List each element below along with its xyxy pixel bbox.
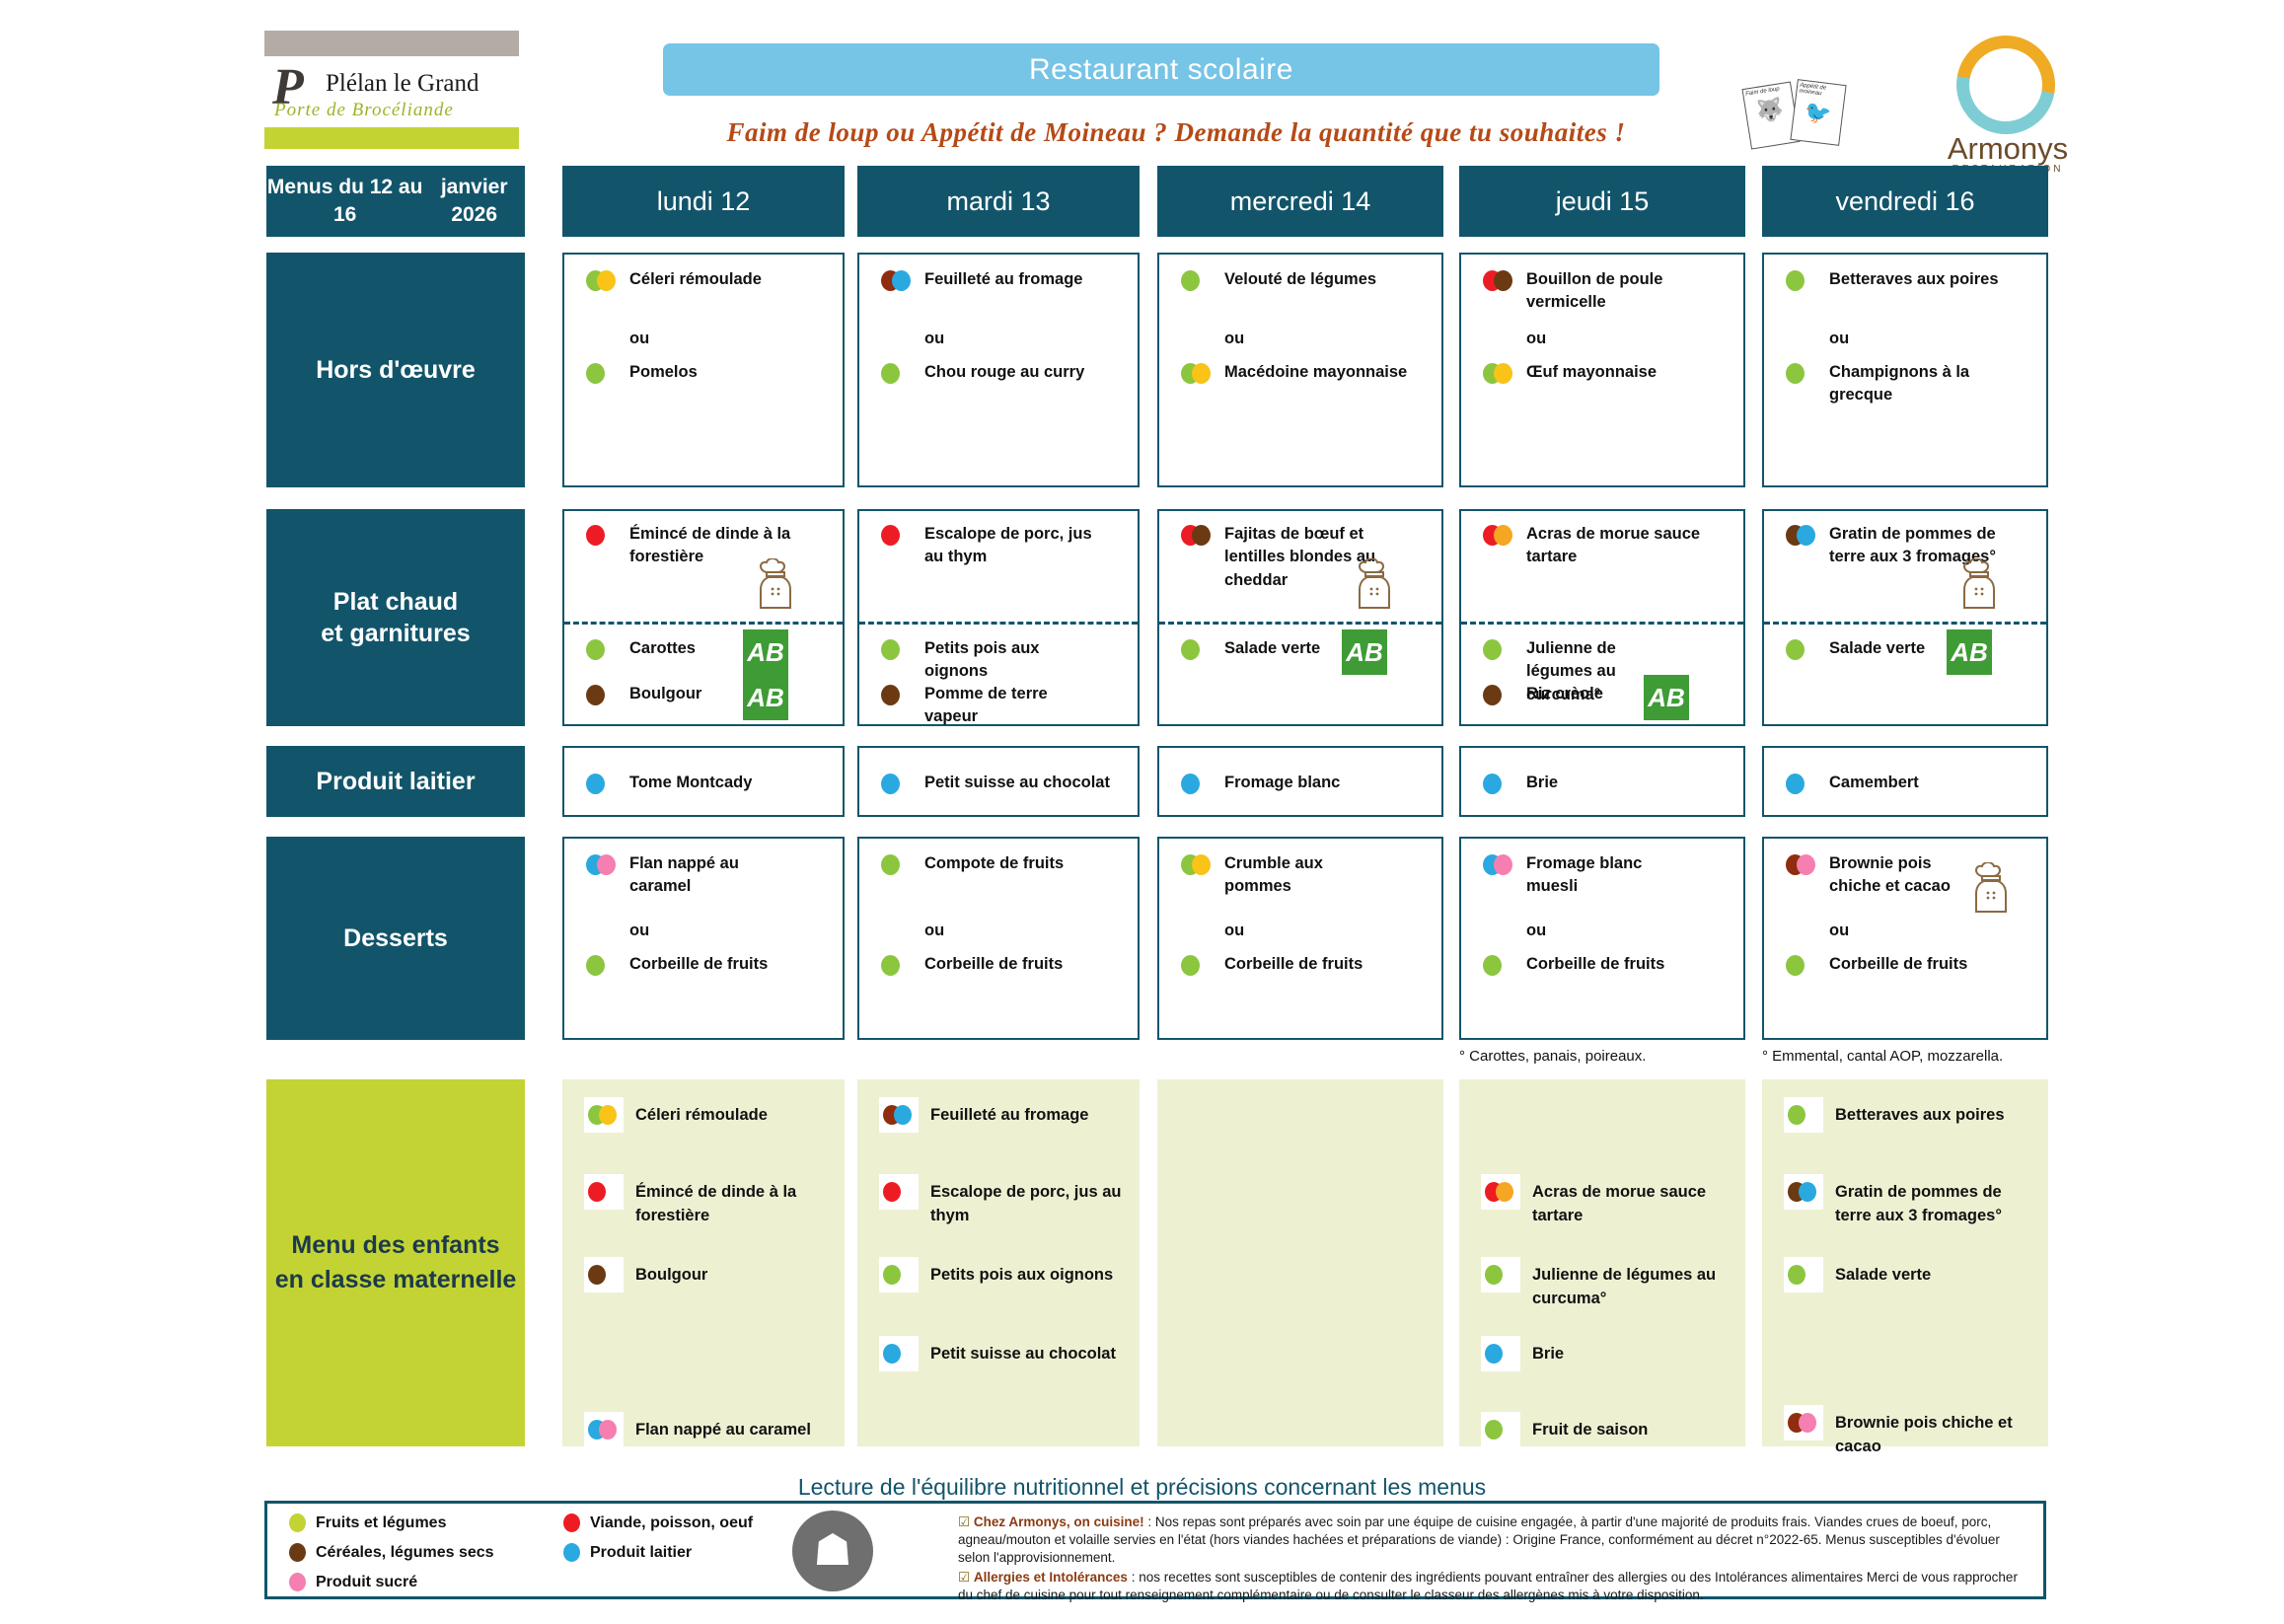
diet-dots xyxy=(1481,1412,1520,1447)
menu-item: Acras de morue sauce tartare xyxy=(1483,523,1710,569)
diet-dot xyxy=(1786,270,1805,291)
main-cell-5: Gratin de pommes de terre aux 3 fromages… xyxy=(1762,509,2048,726)
maternelle-item-label: Gratin de pommes de terre aux 3 fromages… xyxy=(1835,1174,2030,1228)
or-separator: ou xyxy=(629,330,649,348)
legend-dot xyxy=(563,1543,580,1562)
maternelle-item-label: Acras de morue sauce tartare xyxy=(1532,1174,1728,1228)
card-moineau-title: Appétit de moineau xyxy=(1799,83,1843,100)
dessert-cell-1: Flan nappé au caramelouCorbeille de frui… xyxy=(562,837,845,1040)
diet-dots xyxy=(1483,774,1516,795)
menu-item: Brownie pois chiche et cacao xyxy=(1786,852,1983,899)
diet-dots xyxy=(1181,525,1215,547)
menu-item: Pomelos xyxy=(586,361,829,385)
starter-cell-3: Velouté de légumesouMacédoine mayonnaise xyxy=(1157,253,1443,487)
menu-item: Salade verte xyxy=(1181,637,1359,661)
menu-item-label: Crumble aux pommes xyxy=(1224,852,1378,899)
diet-dot xyxy=(881,639,900,660)
menu-item: Corbeille de fruits xyxy=(1483,953,1730,977)
menu-item-label: Corbeille de fruits xyxy=(1224,953,1363,976)
allergens-note: ☑ Allergies et Intolérances : nos recett… xyxy=(958,1569,2028,1604)
page-header: P Plélan le Grand Porte de Brocéliande R… xyxy=(0,0,2284,168)
menu-item-label: Corbeille de fruits xyxy=(629,953,768,976)
diet-dot xyxy=(599,1105,617,1125)
maternelle-item-label: Flan nappé au caramel xyxy=(635,1412,811,1442)
diet-dot xyxy=(1797,525,1815,546)
menu-item-label: Champignons à la grecque xyxy=(1829,361,2032,407)
main-cell-4: Acras de morue sauce tartareJulienne de … xyxy=(1459,509,1745,726)
footer-box: Fruits et légumesCéréales, légumes secsP… xyxy=(264,1501,2046,1599)
maternelle-item: Boulgour xyxy=(584,1257,827,1292)
diet-dot xyxy=(586,363,605,384)
diet-dots xyxy=(1786,270,1819,292)
starter-cell-2: Feuilleté au fromageouChou rouge au curr… xyxy=(857,253,1140,487)
menu-item: Velouté de légumes xyxy=(1181,268,1428,292)
maternelle-item: Julienne de légumes au curcuma° xyxy=(1481,1257,1728,1311)
homemade-chef-icon xyxy=(756,558,795,610)
diet-dot xyxy=(1494,270,1512,291)
maternelle-cell-1: Céleri rémouladeÉmincé de dinde à la for… xyxy=(562,1079,845,1446)
menu-item-label: Bouillon de poule vermicelle xyxy=(1526,268,1730,315)
row-label-starter: Hors d'œuvre xyxy=(266,253,525,487)
footnote-jeudi: ° Carottes, panais, poireaux. xyxy=(1459,1048,1646,1065)
legend-label: Céréales, légumes secs xyxy=(316,1544,494,1562)
menu-item-label: Œuf mayonnaise xyxy=(1526,361,1657,384)
allergens-note-heading: Allergies et Intolérances xyxy=(974,1570,1128,1585)
maternelle-item-label: Feuilleté au fromage xyxy=(930,1097,1088,1128)
menu-item-label: Corbeille de fruits xyxy=(1829,953,1967,976)
week-range-line1: Menus du 12 au 16 xyxy=(266,174,423,230)
menu-item: Corbeille de fruits xyxy=(881,953,1124,977)
menu-item: Corbeille de fruits xyxy=(1181,953,1428,977)
diet-dot xyxy=(1496,1182,1513,1202)
maternelle-item: Gratin de pommes de terre aux 3 fromages… xyxy=(1784,1174,2030,1228)
legend-item: Fruits et légumes xyxy=(289,1513,446,1532)
legend-dot xyxy=(289,1573,306,1591)
legend-item: Produit laitier xyxy=(563,1543,692,1562)
diet-dot xyxy=(1485,1344,1503,1364)
legend-dot xyxy=(563,1513,580,1532)
check-icon: ☑ xyxy=(958,1570,970,1585)
diet-dots xyxy=(1181,955,1215,977)
ab-organic-label-icon: AB xyxy=(1644,675,1689,720)
legend-item: Produit sucré xyxy=(289,1573,417,1591)
or-separator: ou xyxy=(1224,330,1244,348)
menu-item: Bouillon de poule vermicelle xyxy=(1483,268,1730,315)
menu-item: Compote de fruits xyxy=(881,852,1074,876)
menu-item-label: Céleri rémoulade xyxy=(629,268,762,291)
footnote-vendredi: ° Emmental, cantal AOP, mozzarella. xyxy=(1762,1048,2003,1065)
armonys-note: ☑ Chez Armonys, on cuisine! : Nos repas … xyxy=(958,1513,2028,1568)
diet-dots xyxy=(1181,854,1215,876)
logo-middle: P Plélan le Grand Porte de Brocéliande xyxy=(264,56,519,127)
diet-dots xyxy=(586,270,620,292)
menu-item-label: Petit suisse au chocolat xyxy=(924,772,1110,794)
dessert-cell-3: Crumble aux pommesouCorbeille de fruits xyxy=(1157,837,1443,1040)
diet-dots xyxy=(1483,955,1516,977)
dessert-cell-4: Fromage blanc muesliouCorbeille de fruit… xyxy=(1459,837,1745,1040)
maternelle-item: Salade verte xyxy=(1784,1257,2030,1292)
diet-dot xyxy=(1181,639,1200,660)
menu-item-label: Fromage blanc xyxy=(1224,772,1340,794)
logo-tagline: Porte de Brocéliande xyxy=(274,100,454,121)
diet-dot xyxy=(1799,1182,1816,1202)
maternelle-item: Brownie pois chiche et cacao xyxy=(1784,1405,2030,1459)
day-header-label: mardi 13 xyxy=(946,186,1050,217)
armonys-brand-name: Armonys xyxy=(1929,131,2087,167)
diet-dot xyxy=(1181,955,1200,976)
diet-dots xyxy=(586,685,620,706)
diet-dot xyxy=(881,774,900,794)
menu-item: Boulgour xyxy=(586,683,760,706)
menu-item-label: Acras de morue sauce tartare xyxy=(1526,523,1710,569)
diet-dots xyxy=(881,854,915,876)
diet-dot xyxy=(588,1265,606,1285)
diet-dot xyxy=(597,270,616,291)
diet-dots xyxy=(1181,639,1215,661)
maternelle-cell-2: Feuilleté au fromageEscalope de porc, ju… xyxy=(857,1079,1140,1446)
menu-item: Œuf mayonnaise xyxy=(1483,361,1730,385)
diet-dot xyxy=(597,854,616,875)
diet-dots xyxy=(584,1097,624,1133)
menu-item-label: Salade verte xyxy=(1224,637,1320,660)
maternelle-item-label: Julienne de légumes au curcuma° xyxy=(1532,1257,1728,1311)
menu-item: Corbeille de fruits xyxy=(586,953,829,977)
menu-item-label: Betteraves aux poires xyxy=(1829,268,1999,291)
maternelle-item: Émincé de dinde à la forestière xyxy=(584,1174,827,1228)
diet-dot xyxy=(1181,270,1200,291)
or-separator: ou xyxy=(924,330,944,348)
diet-dots xyxy=(1481,1174,1520,1210)
or-separator: ou xyxy=(1224,922,1244,940)
maternelle-item: Acras de morue sauce tartare xyxy=(1481,1174,1728,1228)
chef-hat-badge: ☗ xyxy=(792,1511,873,1591)
diet-dots xyxy=(1483,685,1516,706)
maternelle-cell-4: Acras de morue sauce tartareJulienne de … xyxy=(1459,1079,1745,1446)
maternelle-item: Céleri rémoulade xyxy=(584,1097,827,1133)
diet-dots xyxy=(879,1174,919,1210)
menu-item: Céleri rémoulade xyxy=(586,268,829,292)
menu-item: Fromage blanc xyxy=(1181,772,1428,795)
ab-organic-label-icon: AB xyxy=(743,629,788,675)
legend-item: Viande, poisson, oeuf xyxy=(563,1513,753,1532)
diet-dot xyxy=(881,363,900,384)
diet-dot xyxy=(892,270,911,291)
legend-item: Céréales, légumes secs xyxy=(289,1543,494,1562)
diet-dots xyxy=(1786,955,1819,977)
menu-item-label: Corbeille de fruits xyxy=(1526,953,1664,976)
menu-item: Petit suisse au chocolat xyxy=(881,772,1124,795)
diet-dots xyxy=(1786,774,1819,795)
main-cell-2: Escalope de porc, jus au thymPetits pois… xyxy=(857,509,1140,726)
menu-item: Petits pois aux oignons xyxy=(881,637,1055,684)
diet-dots xyxy=(1181,363,1215,385)
diet-dot xyxy=(1485,1265,1503,1285)
diet-dots xyxy=(1784,1174,1823,1210)
diet-dot xyxy=(894,1105,912,1125)
main-side-divider xyxy=(1764,622,2046,625)
diet-dot xyxy=(1483,955,1502,976)
day-header-5: vendredi 16 xyxy=(1762,166,2048,237)
diet-dot xyxy=(1483,639,1502,660)
card-appetit-moineau: Appétit de moineau 🐦 xyxy=(1790,79,1846,146)
diet-dots xyxy=(879,1336,919,1371)
maternelle-item: Petits pois aux oignons xyxy=(879,1257,1122,1292)
dairy-cell-1: Tome Montcady xyxy=(562,746,845,817)
maternelle-item-label: Escalope de porc, jus au thym xyxy=(930,1174,1122,1228)
menu-item-label: Velouté de légumes xyxy=(1224,268,1376,291)
diet-dots xyxy=(1786,525,1819,547)
menu-item-label: Camembert xyxy=(1829,772,1919,794)
maternelle-item-label: Petit suisse au chocolat xyxy=(930,1336,1116,1366)
diet-dots xyxy=(584,1412,624,1447)
menu-item-label: Pomelos xyxy=(629,361,698,384)
diet-dots xyxy=(1786,639,1819,661)
maternelle-item-label: Fruit de saison xyxy=(1532,1412,1648,1442)
row-label-dairy: Produit laitier xyxy=(266,746,525,817)
maternelle-item-label: Petits pois aux oignons xyxy=(930,1257,1113,1288)
menu-item-label: Fromage blanc muesli xyxy=(1526,852,1680,899)
diet-dots xyxy=(881,639,915,661)
diet-dots xyxy=(1481,1257,1520,1292)
menu-item-label: Brie xyxy=(1526,772,1558,794)
maternelle-item: Feuilleté au fromage xyxy=(879,1097,1122,1133)
card-faim-title: Faim de loup xyxy=(1745,85,1789,98)
dessert-cell-5: Brownie pois chiche et cacaoouCorbeille … xyxy=(1762,837,2048,1040)
diet-dot xyxy=(1485,1420,1503,1439)
or-separator: ou xyxy=(1829,330,1849,348)
dessert-cell-2: Compote de fruitsouCorbeille de fruits xyxy=(857,837,1140,1040)
or-separator: ou xyxy=(1526,330,1546,348)
maternelle-row-label: Menu des enfantsen classe maternelle xyxy=(266,1079,525,1446)
row-label-main: Plat chaudet garnitures xyxy=(266,509,525,726)
row-label-starter-text: Hors d'œuvre xyxy=(316,354,476,387)
menu-item: Carottes xyxy=(586,637,760,661)
maternelle-item-label: Brownie pois chiche et cacao xyxy=(1835,1405,2030,1459)
diet-dot xyxy=(1788,1265,1805,1285)
diet-dots xyxy=(881,955,915,977)
menu-item-label: Tome Montcady xyxy=(629,772,752,794)
diet-dot xyxy=(588,1182,606,1202)
menu-item: Brie xyxy=(1483,772,1730,795)
diet-dot xyxy=(1799,1413,1816,1433)
menu-item: Macédoine mayonnaise xyxy=(1181,361,1428,385)
dairy-cell-4: Brie xyxy=(1459,746,1745,817)
diet-dots xyxy=(881,363,915,385)
diet-dot xyxy=(1192,525,1211,546)
row-label-main-text: Plat chaudet garnitures xyxy=(321,586,470,650)
menu-item-label: Salade verte xyxy=(1829,637,1925,660)
diet-dot xyxy=(883,1344,901,1364)
diet-dot xyxy=(1192,363,1211,384)
diet-dot xyxy=(1797,854,1815,875)
diet-dots xyxy=(1483,270,1516,292)
menu-item: Flan nappé au caramel xyxy=(586,852,779,899)
appetite-cards-icon: Faim de loup 🐺 Appétit de moineau 🐦 xyxy=(1746,77,1855,156)
maternelle-item-label: Boulgour xyxy=(635,1257,707,1288)
menu-page: P Plélan le Grand Porte de Brocéliande R… xyxy=(0,0,2284,1624)
diet-dot xyxy=(881,955,900,976)
diet-dot xyxy=(1494,525,1512,546)
menu-item: Escalope de porc, jus au thym xyxy=(881,523,1104,569)
legend-label: Produit laitier xyxy=(590,1544,692,1562)
menu-item-label: Escalope de porc, jus au thym xyxy=(924,523,1104,569)
maternelle-item: Petit suisse au chocolat xyxy=(879,1336,1122,1371)
menu-item: Pomme de terre vapeur xyxy=(881,683,1055,729)
main-side-divider xyxy=(859,622,1138,625)
week-range-header: Menus du 12 au 16janvier 2026 xyxy=(266,166,525,237)
dairy-cell-3: Fromage blanc xyxy=(1157,746,1443,817)
day-header-3: mercredi 14 xyxy=(1157,166,1443,237)
menu-item-label: Compote de fruits xyxy=(924,852,1064,875)
diet-dots xyxy=(1483,525,1516,547)
maternelle-cell-3 xyxy=(1157,1079,1443,1446)
menu-item: Corbeille de fruits xyxy=(1786,953,2032,977)
homemade-chef-icon xyxy=(1355,558,1394,610)
diet-dot xyxy=(1494,854,1512,875)
legend-label: Fruits et légumes xyxy=(316,1514,446,1532)
maternelle-cell-5: Betteraves aux poiresGratin de pommes de… xyxy=(1762,1079,2048,1446)
menu-item-label: Brownie pois chiche et cacao xyxy=(1829,852,1983,899)
main-side-divider xyxy=(1159,622,1441,625)
page-title: Restaurant scolaire xyxy=(1029,53,1293,87)
or-separator: ou xyxy=(1829,922,1849,940)
diet-dots xyxy=(586,774,620,795)
legend-dot xyxy=(289,1513,306,1532)
menu-item: Champignons à la grecque xyxy=(1786,361,2032,407)
armonys-logo: Armonys RESTAURATION xyxy=(1929,36,2087,164)
restaurant-title-banner: Restaurant scolaire xyxy=(663,43,1659,96)
diet-dots xyxy=(586,525,620,547)
diet-dot xyxy=(1483,685,1502,705)
diet-dots xyxy=(881,270,915,292)
day-header-label: jeudi 15 xyxy=(1556,186,1650,217)
diet-dots xyxy=(879,1097,919,1133)
starter-cell-4: Bouillon de poule vermicelleouŒuf mayonn… xyxy=(1459,253,1745,487)
main-side-divider xyxy=(564,622,843,625)
starter-cell-1: Céleri rémouladeouPomelos xyxy=(562,253,845,487)
diet-dots xyxy=(1784,1405,1823,1440)
dairy-cell-5: Camembert xyxy=(1762,746,2048,817)
menu-item: Chou rouge au curry xyxy=(881,361,1124,385)
maternelle-item: Flan nappé au caramel xyxy=(584,1412,827,1447)
diet-dot xyxy=(1181,774,1200,794)
menu-item: Feuilleté au fromage xyxy=(881,268,1124,292)
menu-item: Crumble aux pommes xyxy=(1181,852,1378,899)
maternelle-item-label: Céleri rémoulade xyxy=(635,1097,768,1128)
diet-dot xyxy=(1786,639,1805,660)
diet-dot xyxy=(1786,955,1805,976)
maternelle-item: Escalope de porc, jus au thym xyxy=(879,1174,1122,1228)
sparrow-icon: 🐦 xyxy=(1796,100,1841,126)
diet-dot xyxy=(883,1182,901,1202)
diet-dots xyxy=(1786,363,1819,385)
diet-dots xyxy=(584,1174,624,1210)
day-header-label: vendredi 16 xyxy=(1835,186,1974,217)
legend-dot xyxy=(289,1543,306,1562)
day-header-4: jeudi 15 xyxy=(1459,166,1745,237)
diet-dot xyxy=(586,639,605,660)
day-header-label: lundi 12 xyxy=(657,186,751,217)
diet-dot xyxy=(1788,1105,1805,1125)
legend-label: Produit sucré xyxy=(316,1574,417,1591)
diet-dot xyxy=(586,685,605,705)
maternelle-row-label-text: Menu des enfantsen classe maternelle xyxy=(275,1228,517,1297)
diet-dots xyxy=(1786,854,1819,876)
day-header-label: mercredi 14 xyxy=(1230,186,1371,217)
starter-cell-5: Betteraves aux poiresouChampignons à la … xyxy=(1762,253,2048,487)
diet-dot xyxy=(586,525,605,546)
diet-dot xyxy=(1786,363,1805,384)
or-separator: ou xyxy=(629,922,649,940)
diet-dots xyxy=(881,525,915,547)
footer-title: Lecture de l'équilibre nutritionnel et p… xyxy=(0,1474,2284,1501)
diet-dots xyxy=(586,854,620,876)
diet-dots xyxy=(1483,363,1516,385)
menu-item-label: Carottes xyxy=(629,637,696,660)
diet-dot xyxy=(1483,774,1502,794)
diet-dots xyxy=(584,1257,624,1292)
dairy-cell-2: Petit suisse au chocolat xyxy=(857,746,1140,817)
diet-dots xyxy=(1784,1097,1823,1133)
week-range-line2: janvier 2026 xyxy=(423,174,525,230)
diet-dot xyxy=(586,774,605,794)
diet-dots xyxy=(1784,1257,1823,1292)
main-side-divider xyxy=(1461,622,1743,625)
diet-dots xyxy=(1483,639,1516,661)
diet-dot xyxy=(1786,774,1805,794)
diet-dots xyxy=(586,955,620,977)
or-separator: ou xyxy=(924,922,944,940)
legend-label: Viande, poisson, oeuf xyxy=(590,1514,753,1532)
diet-dots xyxy=(586,639,620,661)
row-label-dairy-text: Produit laitier xyxy=(316,766,475,798)
menu-item-label: Flan nappé au caramel xyxy=(629,852,779,899)
diet-dots xyxy=(881,774,915,795)
diet-dot xyxy=(883,1265,901,1285)
menu-item-label: Petits pois aux oignons xyxy=(924,637,1055,684)
diet-dots xyxy=(1181,774,1215,795)
diet-dot xyxy=(1192,854,1211,875)
menu-item: Riz crèole xyxy=(1483,683,1660,706)
maternelle-item-label: Salade verte xyxy=(1835,1257,1931,1288)
main-cell-3: Fajitas de bœuf et lentilles blondes au … xyxy=(1157,509,1443,726)
armonys-note-heading: Chez Armonys, on cuisine! xyxy=(974,1514,1144,1529)
diet-dots xyxy=(881,685,915,706)
diet-dots xyxy=(586,363,620,385)
logo-town-name: Plélan le Grand xyxy=(326,70,479,98)
menu-item-label: Corbeille de fruits xyxy=(924,953,1063,976)
diet-dots xyxy=(1481,1336,1520,1371)
diet-dot xyxy=(599,1420,617,1439)
menu-item-label: Chou rouge au curry xyxy=(924,361,1084,384)
row-label-dessert-text: Desserts xyxy=(343,923,448,955)
diet-dot xyxy=(881,525,900,546)
plelan-le-grand-logo: P Plélan le Grand Porte de Brocéliande xyxy=(264,31,519,149)
or-separator: ou xyxy=(1526,922,1546,940)
wolf-icon: 🐺 xyxy=(1747,97,1794,125)
menu-item-label: Riz crèole xyxy=(1526,683,1603,705)
menu-item: Betteraves aux poires xyxy=(1786,268,2032,292)
day-header-2: mardi 13 xyxy=(857,166,1140,237)
diet-dot xyxy=(881,854,900,875)
maternelle-item: Fruit de saison xyxy=(1481,1412,1728,1447)
menu-item: Salade verte xyxy=(1786,637,1963,661)
main-cell-1: Émincé de dinde à la forestièreCarottesA… xyxy=(562,509,845,726)
diet-dots xyxy=(1483,854,1516,876)
diet-dot xyxy=(881,685,900,705)
maternelle-item: Brie xyxy=(1481,1336,1728,1371)
menu-item: Fromage blanc muesli xyxy=(1483,852,1680,899)
